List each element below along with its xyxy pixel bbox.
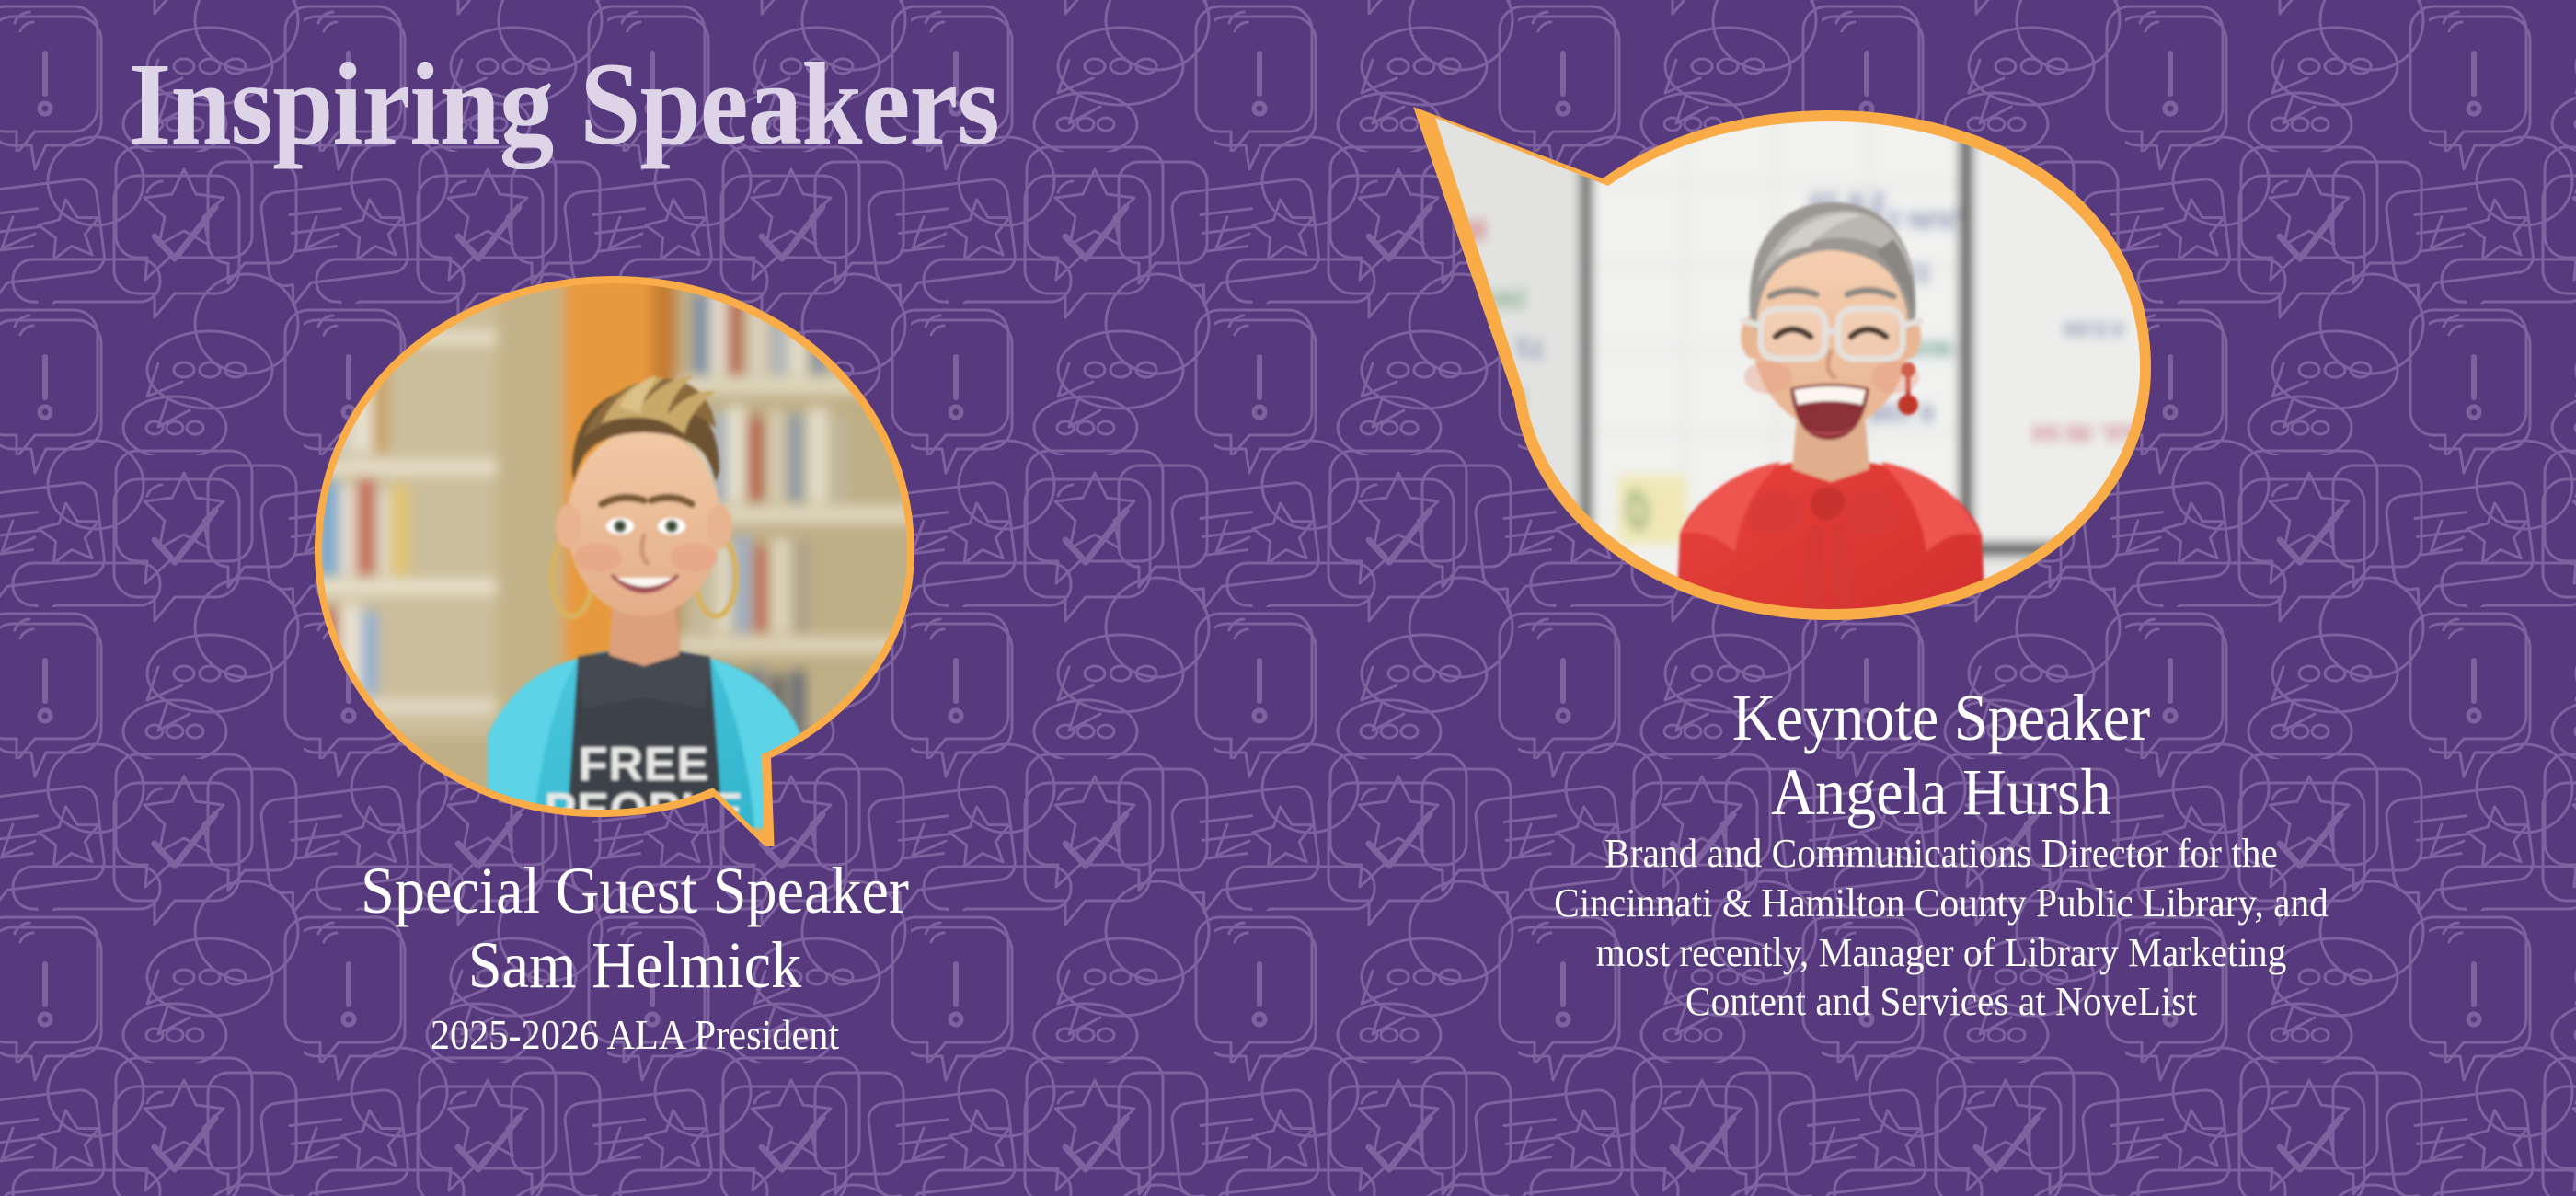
svg-text:2M.0.2%: 2M.0.2% <box>1425 285 1527 314</box>
svg-text:71: 71 <box>1515 332 1546 362</box>
poster-canvas: Inspiring Speakers <box>0 0 2576 1196</box>
svg-text:24: 24 <box>1513 611 1540 638</box>
left-speaker-caption: Special Guest Speaker Sam Helmick 2025-2… <box>0 854 1270 1060</box>
right-speaker-caption: Keynote Speaker Angela Hursh Brand and C… <box>1306 681 2576 1027</box>
right-speaker-photo: IN 2M.0.2% 71 2M.0.04 GO• 18M.0.3M 24 AN… <box>1425 101 2254 657</box>
right-role-label: Keynote Speaker <box>1357 681 2525 755</box>
right-desc-line-1: Brand and Communications Director for th… <box>1344 829 2537 879</box>
left-role-label: Special Guest Speaker <box>51 854 1219 928</box>
svg-text:M: M <box>2173 547 2190 570</box>
svg-text:04: 04 <box>2183 482 2208 507</box>
right-desc-line-4: Content and Services at NoveList <box>1344 977 2537 1027</box>
right-speaker-name: Angela Hursh <box>1357 755 2525 830</box>
page-title: Inspiring Speakers <box>129 42 999 166</box>
speaker-card-left: FREE PEOPLE <box>0 276 1270 846</box>
svg-text:GO•: GO• <box>1460 482 1509 511</box>
svg-text:18M.0.3M: 18M.0.3M <box>1446 500 1553 528</box>
right-desc-line-2: Cincinnati & Hamilton County Public Libr… <box>1344 879 2537 928</box>
svg-text:4 0.04: 4 0.04 <box>2064 316 2125 341</box>
right-speech-bubble: IN 2M.0.2% 71 2M.0.04 GO• 18M.0.3M 24 AN… <box>1371 101 2291 672</box>
speaker-card-right: IN 2M.0.2% 71 2M.0.04 GO• 18M.0.3M 24 AN… <box>1306 101 2576 672</box>
left-speaker-subtitle: 2025-2026 ALA President <box>51 1009 1219 1060</box>
right-desc-line-3: most recently, Manager of Library Market… <box>1344 928 2537 978</box>
left-speaker-name: Sam Helmick <box>51 928 1219 1003</box>
left-speech-bubble: FREE PEOPLE <box>212 276 1095 846</box>
